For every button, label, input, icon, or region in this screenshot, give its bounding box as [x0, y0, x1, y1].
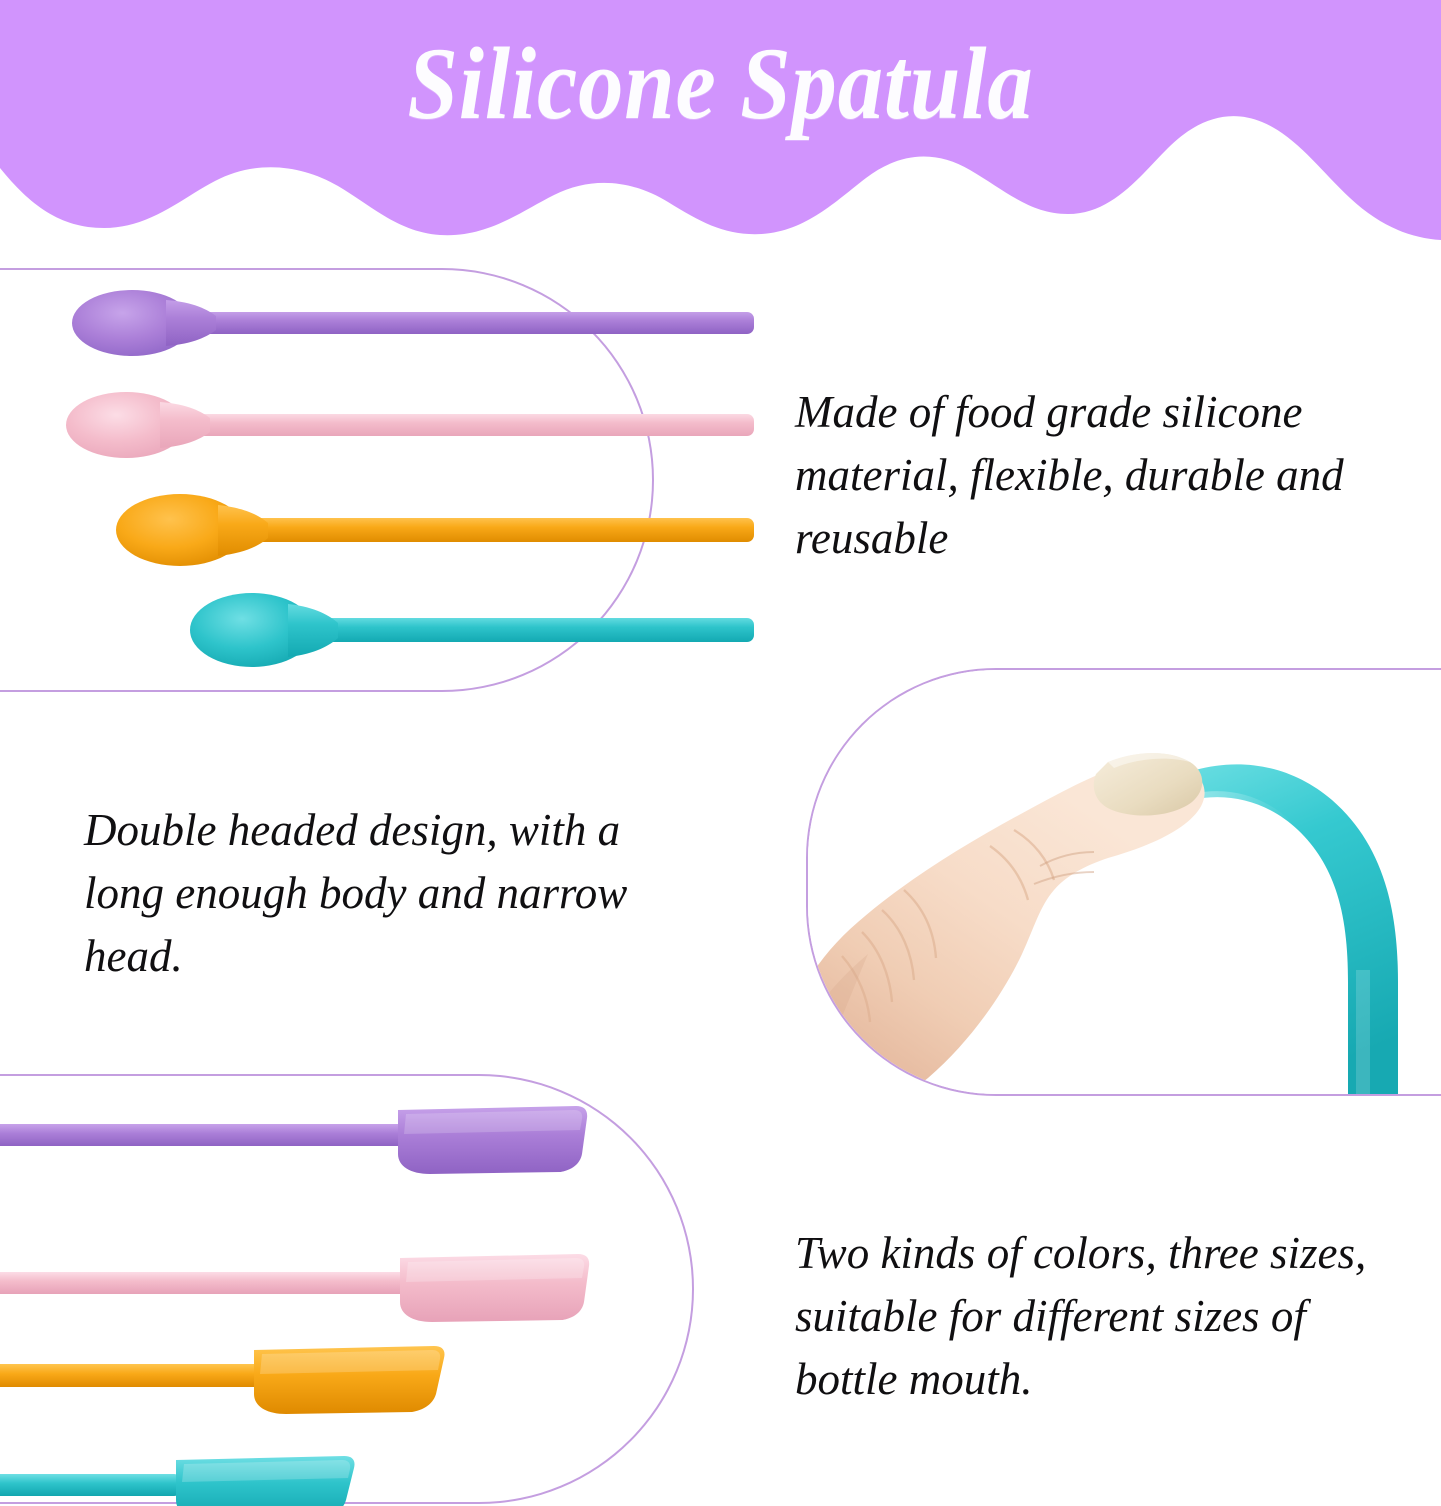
- flexibility-photo-panel: [806, 668, 1441, 1096]
- page-title: Silicone Spatula: [86, 22, 1354, 146]
- feature-text-two-colors: Two kinds of colors, three sizes, suitab…: [795, 1222, 1385, 1411]
- spoon-teal: [190, 593, 754, 667]
- spoon-orange: [116, 494, 754, 566]
- spoon-panel-inner: [0, 270, 652, 690]
- feature-text-food-grade: Made of food grade silicone material, fl…: [795, 381, 1395, 570]
- flat-spatula-purple: [0, 1106, 587, 1174]
- flat-spatula-pink: [0, 1254, 589, 1322]
- flat-spatula-panel: [0, 1074, 694, 1504]
- flat-panel-inner: [0, 1076, 692, 1502]
- flat-spatula-orange: [0, 1346, 445, 1414]
- feature-text-double-head: Double headed design, with a long enough…: [84, 799, 684, 988]
- page-header: Silicone Spatula: [0, 0, 1441, 260]
- flat-spatula-teal: [0, 1456, 355, 1506]
- spoon-spatula-panel: [0, 268, 654, 692]
- flat-spatula-illustration: [0, 1076, 746, 1506]
- finger-bending-spatula-photo: [808, 670, 1441, 1096]
- spoon-purple: [72, 290, 754, 356]
- spoon-pink: [66, 392, 754, 458]
- spoon-spatula-illustration: [0, 270, 754, 694]
